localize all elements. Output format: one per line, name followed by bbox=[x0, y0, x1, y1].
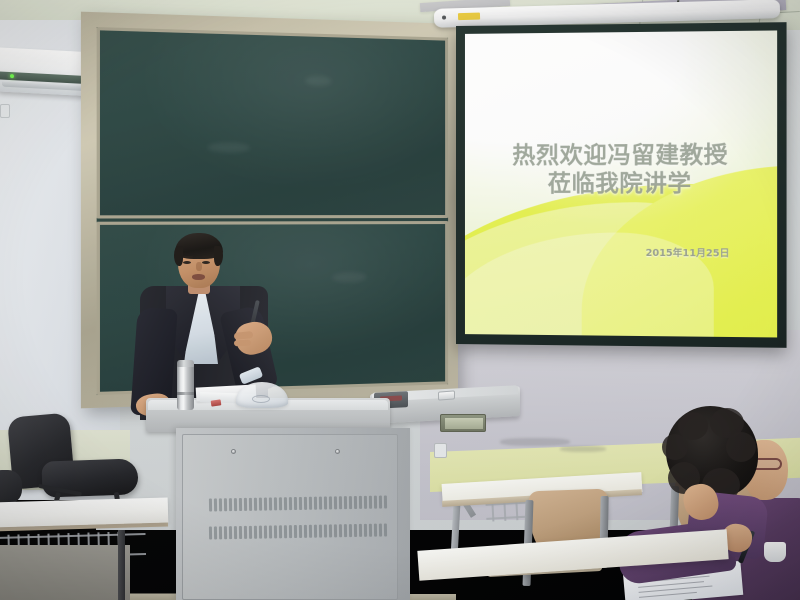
av-wall-panel-face bbox=[445, 418, 483, 429]
desk-leg bbox=[118, 530, 125, 600]
housing-warning-label bbox=[458, 13, 480, 21]
podium-door[interactable] bbox=[182, 434, 398, 600]
projection-screen-surface: 热烈欢迎冯留建教授 莅临我院讲学 2015年11月25日 bbox=[465, 30, 777, 337]
slide-title-line-1: 热烈欢迎冯留建教授 bbox=[512, 142, 728, 169]
slide-title: 热烈欢迎冯留建教授 莅临我院讲学 bbox=[465, 141, 777, 198]
ac-power-led-icon bbox=[10, 74, 14, 78]
av-wall-panel[interactable] bbox=[440, 414, 486, 432]
power-outlet bbox=[434, 443, 447, 458]
desk-modesty-panel bbox=[0, 545, 130, 600]
paper-cup bbox=[764, 542, 786, 562]
presenter-hair-side bbox=[214, 246, 223, 266]
classroom-photo: ✳ 热烈欢迎冯留建教授 莅临我院讲学 bbox=[0, 0, 800, 600]
wall-scuff bbox=[500, 438, 570, 446]
office-chair-back-second[interactable] bbox=[0, 470, 22, 504]
thermos-flask bbox=[177, 362, 194, 410]
blackboard-upper-panel bbox=[97, 27, 448, 218]
wall-scuff bbox=[560, 446, 606, 452]
presenter-brow bbox=[202, 256, 212, 258]
presenter-nose bbox=[196, 262, 202, 271]
remote-control[interactable] bbox=[438, 390, 455, 400]
plastic-cover-ring bbox=[252, 395, 270, 403]
presenter-brow bbox=[183, 256, 193, 258]
presenter-finger bbox=[234, 340, 251, 347]
slide-title-line-2: 莅临我院讲学 bbox=[465, 170, 777, 199]
thermos-band bbox=[177, 392, 194, 395]
presenter-eye bbox=[202, 261, 210, 264]
presenter-hair-side bbox=[174, 246, 183, 266]
podium-lock-icon bbox=[231, 449, 236, 454]
slide-date: 2015年11月25日 bbox=[646, 245, 730, 260]
thermos-cap bbox=[177, 360, 194, 367]
housing-button-icon bbox=[442, 15, 446, 19]
podium-lock-icon bbox=[335, 449, 340, 454]
wall-plate bbox=[0, 104, 10, 118]
left-desk bbox=[0, 498, 168, 528]
presenter-mouth bbox=[192, 274, 205, 280]
projection-screen: 热烈欢迎冯留建教授 莅临我院讲学 2015年11月25日 bbox=[456, 22, 787, 348]
presenter-eye bbox=[183, 261, 191, 264]
